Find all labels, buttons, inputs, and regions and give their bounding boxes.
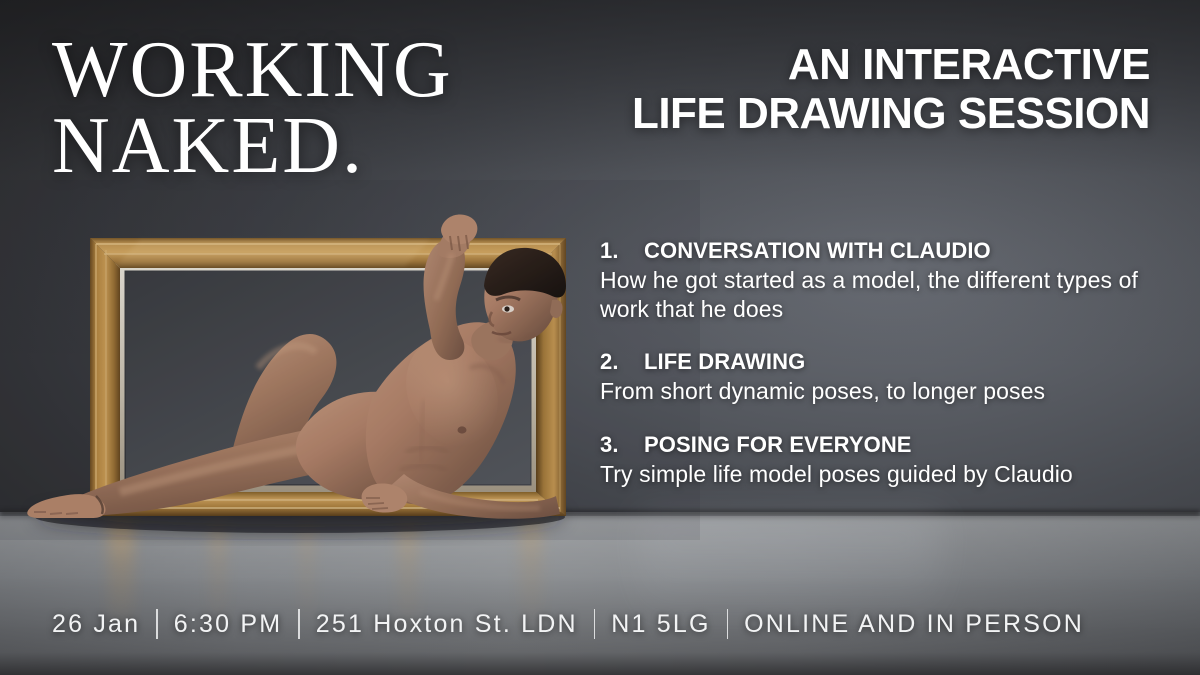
title-line-2: NAKED.: [52, 108, 522, 184]
agenda-item-heading: 3. POSING FOR EVERYONE: [600, 432, 1160, 458]
agenda-item-description: How he got started as a model, the diffe…: [600, 266, 1160, 323]
agenda-item-number: 1.: [600, 238, 644, 264]
event-format: ONLINE AND IN PERSON: [744, 610, 1084, 639]
event-address: 251 Hoxton St. LDN: [316, 610, 578, 639]
event-details-bar: 26 Jan 6:30 PM 251 Hoxton St. LDN N1 5LG…: [52, 609, 1160, 639]
agenda-item-description: Try simple life model poses guided by Cl…: [600, 460, 1160, 489]
poster-canvas: WORKING NAKED. AN INTERACTIVE LIFE DRAWI…: [0, 0, 1200, 675]
page-title: WORKING NAKED.: [52, 32, 522, 184]
agenda-list: 1. CONVERSATION WITH CLAUDIO How he got …: [600, 238, 1160, 488]
agenda-item-heading: 2. LIFE DRAWING: [600, 349, 1160, 375]
agenda-item-title: POSING FOR EVERYONE: [644, 432, 1160, 458]
event-postcode: N1 5LG: [611, 610, 710, 639]
agenda-item-number: 2.: [600, 349, 644, 375]
agenda-item-title: CONVERSATION WITH CLAUDIO: [644, 238, 1160, 264]
separator: [727, 609, 729, 639]
agenda-item-description: From short dynamic poses, to longer pose…: [600, 377, 1160, 406]
agenda-item: 2. LIFE DRAWING From short dynamic poses…: [600, 349, 1160, 406]
title-line-1: WORKING: [52, 26, 453, 114]
agenda-item: 1. CONVERSATION WITH CLAUDIO How he got …: [600, 238, 1160, 323]
event-time: 6:30 PM: [174, 610, 283, 639]
separator: [156, 609, 158, 639]
agenda-item: 3. POSING FOR EVERYONE Try simple life m…: [600, 432, 1160, 489]
separator: [298, 609, 300, 639]
separator: [594, 609, 596, 639]
headline-line-2: LIFE DRAWING SESSION: [550, 89, 1150, 138]
event-date: 26 Jan: [52, 610, 140, 639]
headline-line-1: AN INTERACTIVE: [788, 40, 1150, 89]
agenda-item-heading: 1. CONVERSATION WITH CLAUDIO: [600, 238, 1160, 264]
headline: AN INTERACTIVE LIFE DRAWING SESSION: [550, 40, 1150, 139]
agenda-item-title: LIFE DRAWING: [644, 349, 1160, 375]
agenda-item-number: 3.: [600, 432, 644, 458]
